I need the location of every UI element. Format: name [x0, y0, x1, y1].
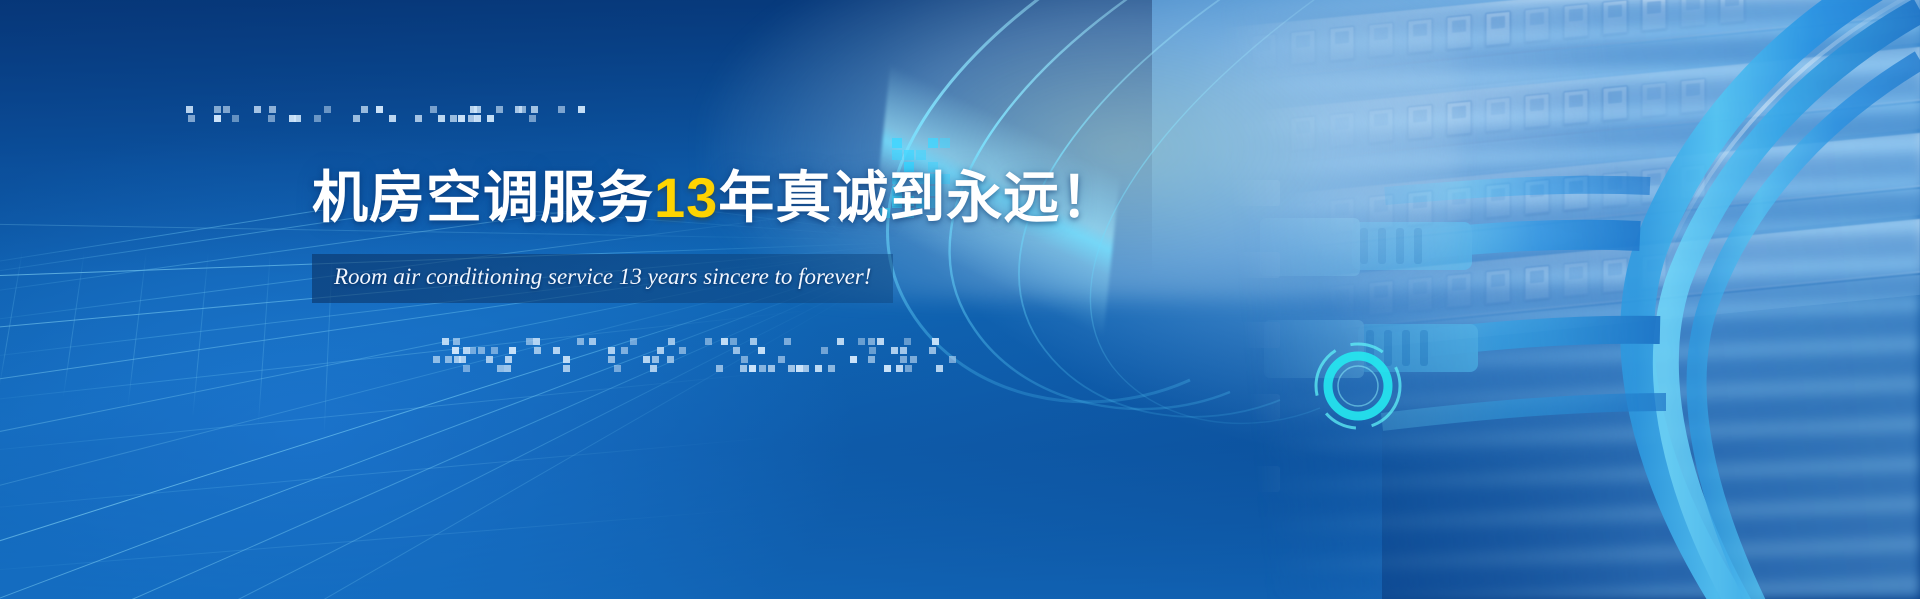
tech-ring-icon — [1310, 338, 1406, 434]
hero-banner: 机房空调服务13年真诚到永远！ Room air conditioning se… — [0, 0, 1920, 599]
headline-part-2: 年真诚到永远！ — [718, 166, 1117, 229]
subtitle: Room air conditioning service 13 years s… — [334, 263, 871, 292]
subtitle-bar: Room air conditioning service 13 years s… — [312, 254, 893, 303]
headline-part-1: 机房空调服务 — [312, 166, 654, 229]
headline: 机房空调服务13年真诚到永远！ — [312, 168, 952, 228]
banner-copy: 机房空调服务13年真诚到永远！ Room air conditioning se… — [312, 168, 952, 303]
headline-years-number: 13 — [654, 166, 718, 229]
